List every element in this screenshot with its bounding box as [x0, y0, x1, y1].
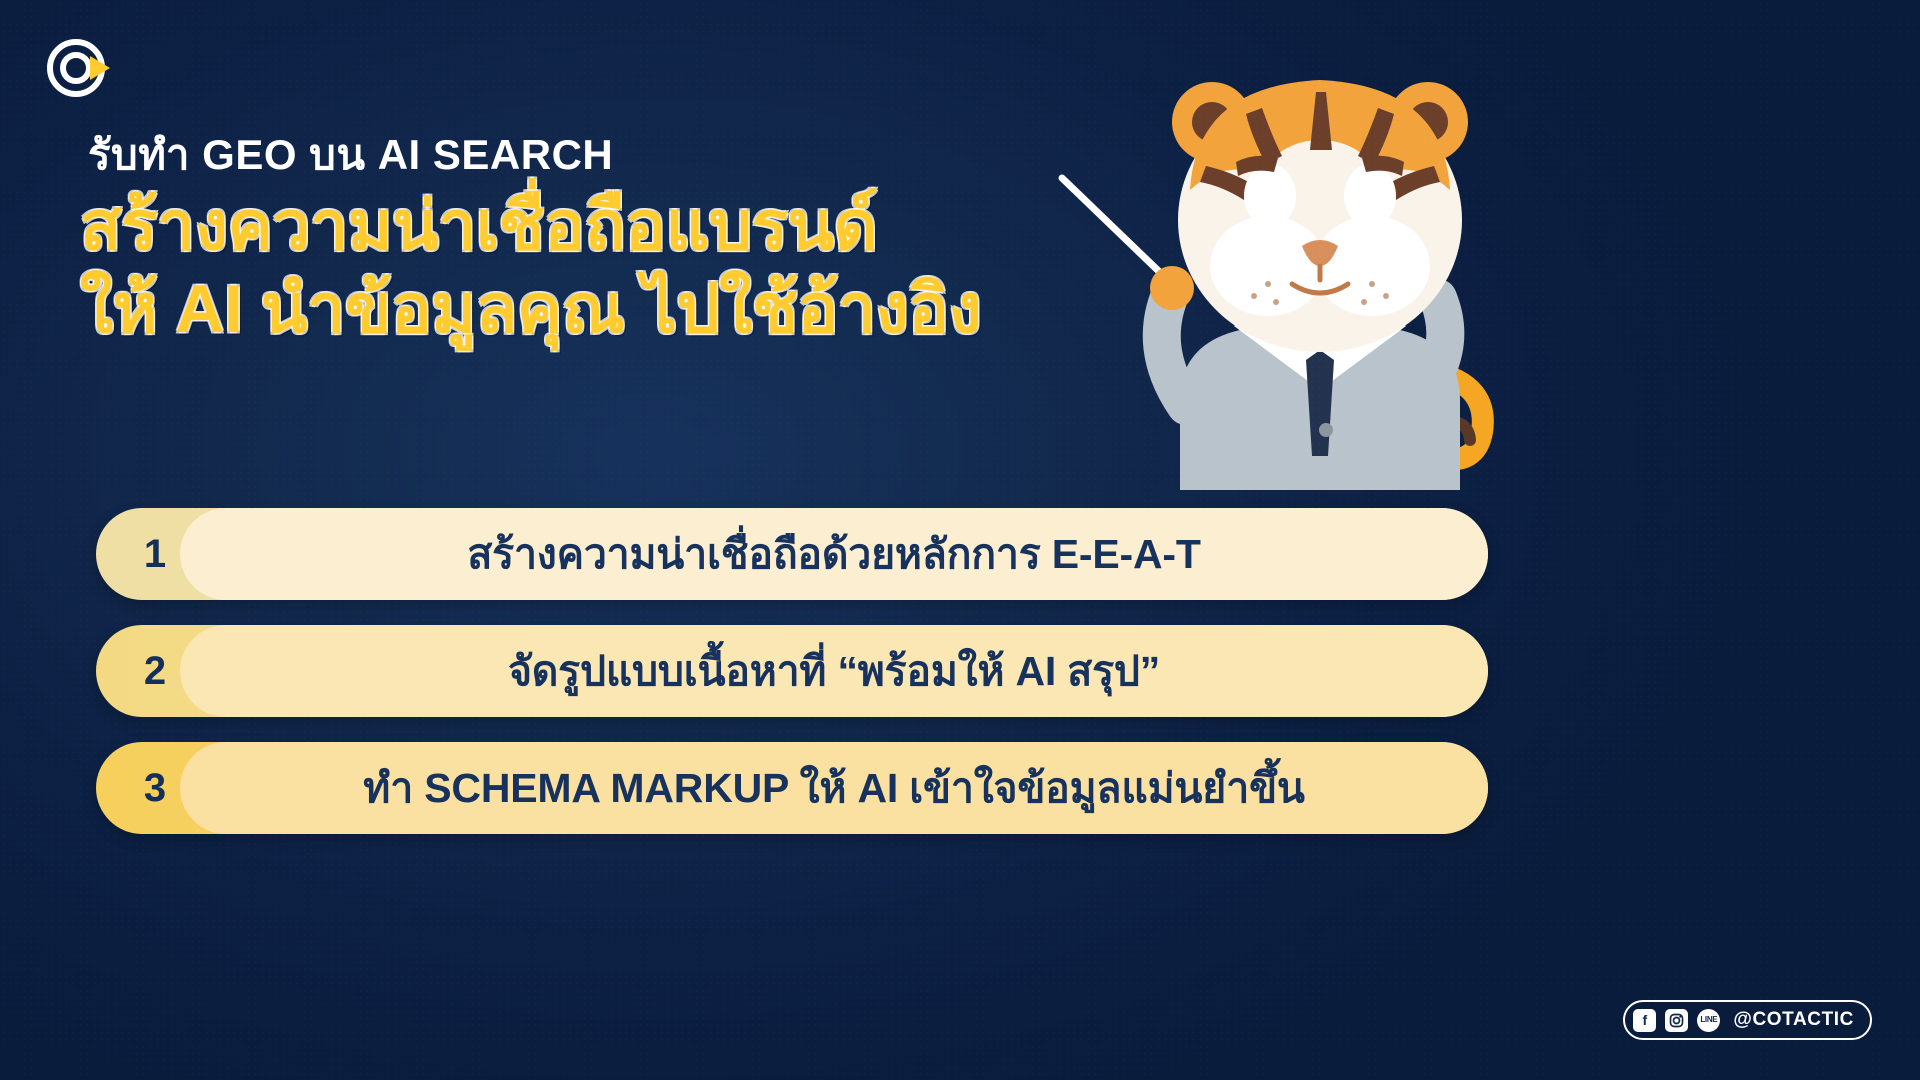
steps-list: 1 สร้างความน่าเชื่อถือด้วยหลักการ E-E-A-…	[96, 508, 1488, 859]
social-handle: @COTACTIC	[1733, 1009, 1854, 1031]
poster-canvas: รับทำ GEO บน AI SEARCH สร้างความน่าเชื่อ…	[0, 0, 1920, 1080]
line-icon[interactable]: LINE	[1697, 1009, 1720, 1032]
list-item[interactable]: 3 ทำ SCHEMA MARKUP ให้ AI เข้าใจข้อมูลแม…	[96, 742, 1488, 834]
social-badge[interactable]: f LINE @COTACTIC	[1623, 1000, 1872, 1040]
kicker-heading: รับทำ GEO บน AI SEARCH	[88, 122, 613, 188]
step-label: สร้างความน่าเชื่อถือด้วยหลักการ E-E-A-T	[437, 522, 1230, 587]
headline-line-1: สร้างความน่าเชื่อถือแบรนด์	[80, 193, 981, 260]
facebook-icon[interactable]: f	[1633, 1009, 1656, 1032]
tiger-presenter-mascot	[1030, 70, 1550, 490]
step-body: สร้างความน่าเชื่อถือด้วยหลักการ E-E-A-T	[180, 508, 1488, 600]
instagram-glyph	[1669, 1013, 1684, 1028]
step-body: ทำ SCHEMA MARKUP ให้ AI เข้าใจข้อมูลแม่น…	[180, 742, 1488, 834]
list-item[interactable]: 2 จัดรูปแบบเนื้อหาที่ “พร้อมให้ AI สรุป”	[96, 625, 1488, 717]
instagram-icon[interactable]	[1665, 1009, 1688, 1032]
cotactic-target-play-logo-icon	[30, 28, 140, 108]
list-item[interactable]: 1 สร้างความน่าเชื่อถือด้วยหลักการ E-E-A-…	[96, 508, 1488, 600]
step-body: จัดรูปแบบเนื้อหาที่ “พร้อมให้ AI สรุป”	[180, 625, 1488, 717]
step-label: จัดรูปแบบเนื้อหาที่ “พร้อมให้ AI สรุป”	[478, 639, 1190, 704]
headline-line-2: ให้ AI นำข้อมูลคุณ ไปใช้อ้างอิง	[80, 276, 981, 343]
step-label: ทำ SCHEMA MARKUP ให้ AI เข้าใจข้อมูลแม่น…	[333, 756, 1335, 821]
page-title: สร้างความน่าเชื่อถือแบรนด์ ให้ AI นำข้อม…	[80, 193, 981, 342]
